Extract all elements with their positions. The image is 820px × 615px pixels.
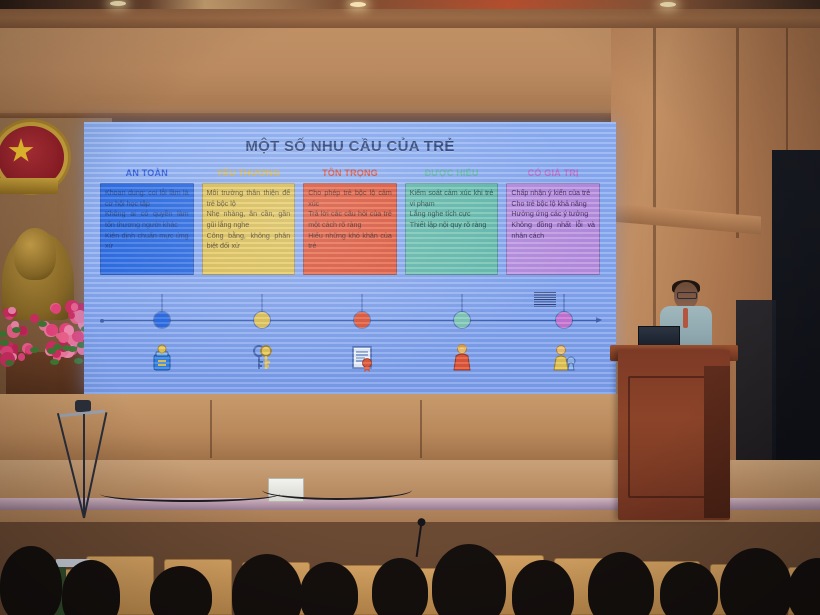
timeline-axis xyxy=(102,320,598,321)
column-line: Khoan dung: coi lỗi lầm là cơ hội học tậ… xyxy=(105,188,189,209)
timeline-dot-2 xyxy=(254,312,270,328)
flower-leaf xyxy=(68,346,77,352)
timeline-icons xyxy=(102,340,598,386)
vietnam-national-emblem-icon xyxy=(0,120,68,198)
timeline-dot-4 xyxy=(454,312,470,328)
column-header: AN TOÀN xyxy=(126,168,168,178)
wall-recess xyxy=(772,150,820,480)
column-text-box: Khoan dung: coi lỗi lầm là cơ hội học tậ… xyxy=(100,183,194,275)
flower xyxy=(51,304,62,315)
column-line: Trả lời các câu hỏi của trẻ một cách rõ … xyxy=(308,209,392,230)
column-header: CÓ GIÁ TRỊ xyxy=(528,168,579,178)
slide-columns: AN TOÀNKhoan dung: coi lỗi lầm là cơ hội… xyxy=(100,168,600,328)
podium xyxy=(618,350,730,520)
flower-leaf xyxy=(0,331,7,337)
slide-column-4: ĐƯỢC HIỂUKiểm soát cảm xúc khi trẻ vi ph… xyxy=(405,168,499,328)
slide-column-1: AN TOÀNKhoan dung: coi lỗi lầm là cơ hội… xyxy=(100,168,194,328)
column-line: Kiên định chuẩn mực ứng xử xyxy=(105,231,189,252)
ceiling-lamp xyxy=(350,2,366,7)
column-line: Hưởng ứng các ý tưởng xyxy=(511,209,595,220)
slide-column-2: YÊU THƯƠNGMôi trường thân thiện để trẻ b… xyxy=(202,168,296,328)
glasses-icon xyxy=(677,292,697,299)
certificate-icon xyxy=(346,342,378,379)
timeline-dot-5 xyxy=(556,312,572,328)
flower xyxy=(46,324,58,336)
audience-head xyxy=(372,558,428,615)
column-header: TÔN TRỌNG xyxy=(322,168,378,178)
column-line: Nhẹ nhàng, ân cần, gần gũi lắng nghe xyxy=(207,209,291,230)
person-with-child-icon xyxy=(548,342,580,379)
projection-screen: MỘT SỐ NHU CẦU CỦA TRẺ AN TOÀNKhoan dung… xyxy=(84,122,616,397)
flower-leaf xyxy=(50,359,59,365)
audience-area xyxy=(0,500,820,615)
column-line: Không ai có quyền làm tổn thương người k… xyxy=(105,209,189,230)
timeline-dot-1 xyxy=(154,312,170,328)
column-line: Môi trường thân thiện để trẻ bộc lộ xyxy=(207,188,291,209)
column-line: Thiết lập nội quy rõ ràng xyxy=(410,220,494,231)
column-line: Cho phép trẻ bộc lộ cảm xúc xyxy=(308,188,392,209)
column-line: Công bằng, không phân biệt đối xử xyxy=(207,231,291,252)
person-icon xyxy=(446,342,478,379)
column-text-box: Cho phép trẻ bộc lộ cảm xúcTrả lời các c… xyxy=(303,183,397,275)
column-line: Chấp nhận ý kiến của trẻ xyxy=(511,188,595,199)
flower-leaf xyxy=(5,360,14,366)
column-header: YÊU THƯƠNG xyxy=(217,168,281,178)
timeline xyxy=(102,312,598,328)
column-text-box: Môi trường thân thiện để trẻ bộc lộNhẹ n… xyxy=(202,183,296,275)
photo-scene: MỘT SỐ NHU CẦU CỦA TRẺ AN TOÀNKhoan dung… xyxy=(0,0,820,615)
column-text-box: Chấp nhận ý kiến của trẻCho trẻ bộc lộ k… xyxy=(506,183,600,275)
column-line: Lắng nghe tích cực xyxy=(410,209,494,220)
flower xyxy=(72,331,84,343)
presenter-tie xyxy=(683,308,688,328)
audience-head xyxy=(0,546,62,615)
column-header: ĐƯỢC HIỂU xyxy=(425,168,479,178)
column-line: Kiểm soát cảm xúc khi trẻ vi phạm xyxy=(410,188,494,209)
floor-cable xyxy=(262,480,412,500)
slide-column-3: TÔN TRỌNGCho phép trẻ bộc lộ cảm xúcTrả … xyxy=(303,168,397,328)
keys-icon xyxy=(246,342,278,379)
audience-head xyxy=(660,562,718,615)
column-text-box: Kiểm soát cảm xúc khi trẻ vi phạmLắng ng… xyxy=(405,183,499,275)
flower-leaf xyxy=(74,358,83,364)
timeline-dot-3 xyxy=(354,312,370,328)
slide-title: MỘT SỐ NHU CẦU CỦA TRẺ xyxy=(84,138,616,155)
flower-leaf xyxy=(30,347,39,353)
column-line: Cho trẻ bộc lộ khả năng xyxy=(511,199,595,210)
money-jar-icon xyxy=(146,342,178,379)
column-line: Không đồng nhất lỗi và nhân cách xyxy=(511,220,595,241)
ceiling-lamp xyxy=(110,1,126,6)
ceiling-lamp xyxy=(660,2,676,7)
flower xyxy=(18,353,25,360)
column-line: Hiểu những khó khăn của trẻ xyxy=(308,231,392,252)
striped-flag-icon xyxy=(534,292,556,307)
